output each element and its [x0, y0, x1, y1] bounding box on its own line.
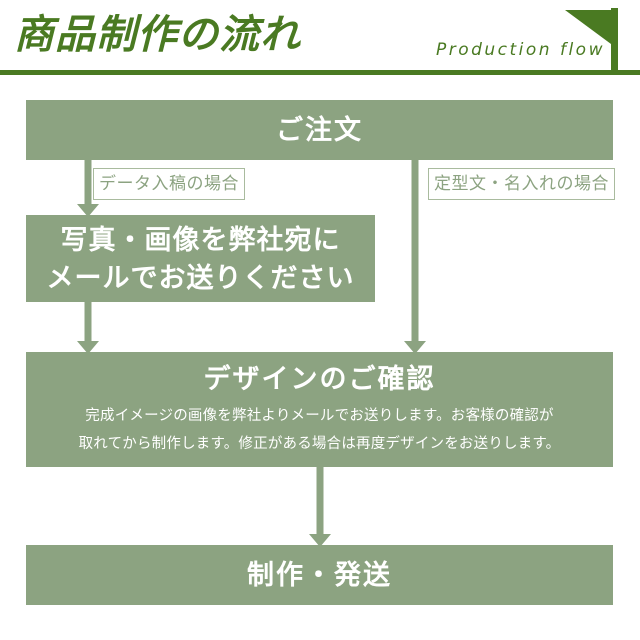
arrow-shaft: [85, 158, 92, 204]
flow-step-production-shipping: 制作・発送: [26, 545, 613, 605]
arrow-shaft: [317, 465, 324, 534]
flow-step-design-check-body: 完成イメージの画像を弊社よりメールでお送りします。お客様の確認が 取れてから制作…: [65, 402, 575, 458]
flag-pole-icon: [611, 8, 618, 72]
header-divider: [0, 70, 640, 75]
branch-label-fixed-text-naming: 定型文・名入れの場合: [428, 168, 615, 200]
production-flow-diagram: 商品制作の流れ Production flow ご注文 データ入稿の場合 定型文…: [0, 0, 640, 640]
arrow-order-to-design-check: [404, 158, 426, 354]
flag-pennant-icon: [565, 10, 611, 44]
flow-step-send-image-title-line2: メールでお送りください: [47, 259, 355, 297]
flow-step-order-title: ご注文: [276, 113, 363, 147]
arrow-order-to-send-image: [77, 158, 99, 217]
flow-step-send-image-title-line1: 写真・画像を弊社宛に: [61, 221, 341, 259]
arrow-shaft: [85, 300, 92, 341]
flow-step-design-check-title: デザインのご確認: [204, 362, 436, 396]
flow-step-order: ご注文: [26, 100, 613, 160]
arrow-design-check-to-production: [309, 465, 331, 547]
flow-step-design-check-body-line2: 取れてから制作します。修正がある場合は再度デザインをお送りします。: [79, 430, 561, 458]
flow-step-production-shipping-title: 制作・発送: [247, 558, 392, 592]
page-title: 商品制作の流れ: [14, 8, 301, 62]
branch-label-data-submission: データ入稿の場合: [93, 168, 245, 200]
arrow-send-image-to-design-check: [77, 300, 99, 354]
page-header: 商品制作の流れ Production flow: [0, 0, 640, 78]
flow-step-send-image: 写真・画像を弊社宛に メールでお送りください: [26, 215, 375, 302]
flow-step-design-check-body-line1: 完成イメージの画像を弊社よりメールでお送りします。お客様の確認が: [79, 402, 561, 430]
arrow-shaft: [412, 158, 419, 341]
flow-step-design-check: デザインのご確認 完成イメージの画像を弊社よりメールでお送りします。お客様の確認…: [26, 352, 613, 467]
